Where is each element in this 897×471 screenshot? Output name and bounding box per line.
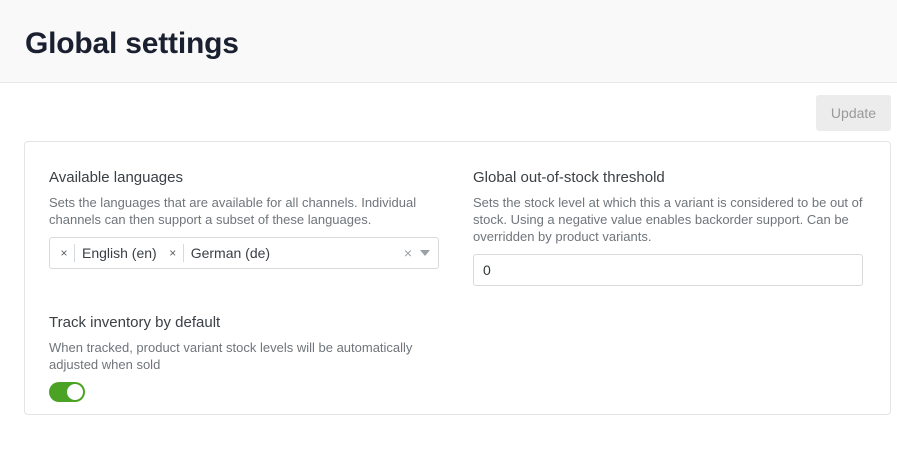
column-right-second [473, 313, 863, 402]
field-track-inventory: Track inventory by default When tracked,… [49, 313, 439, 402]
multiselect-actions: × [404, 238, 430, 268]
language-chip-label: German (de) [191, 244, 270, 262]
toggle-knob [67, 384, 83, 400]
global-settings-page: Global settings Update Available languag… [0, 0, 897, 471]
column-right: Global out-of-stock threshold Sets the s… [473, 168, 863, 286]
out-of-stock-threshold-input[interactable] [473, 254, 863, 286]
available-languages-description: Sets the languages that are available fo… [49, 194, 439, 228]
track-inventory-toggle[interactable] [49, 382, 85, 402]
update-button[interactable]: Update [816, 95, 891, 131]
settings-grid-second-row: Track inventory by default When tracked,… [49, 313, 866, 402]
out-of-stock-threshold-description: Sets the stock level at which this a var… [473, 194, 863, 245]
language-chip: × German (de) [165, 242, 270, 264]
column-left-second: Track inventory by default When tracked,… [49, 313, 439, 402]
action-bar: Update [0, 83, 897, 141]
page-title: Global settings [25, 25, 239, 63]
settings-grid: Available languages Sets the languages t… [49, 168, 866, 286]
language-chip-label: English (en) [82, 244, 157, 262]
chevron-down-icon[interactable] [420, 250, 430, 256]
chip-divider [183, 244, 184, 262]
chip-divider [74, 244, 75, 262]
field-available-languages: Available languages Sets the languages t… [49, 168, 439, 269]
clear-all-icon[interactable]: × [404, 246, 412, 260]
field-out-of-stock-threshold: Global out-of-stock threshold Sets the s… [473, 168, 863, 286]
available-languages-multiselect[interactable]: × English (en) × German (de) × [49, 237, 439, 269]
language-chip: × English (en) [56, 242, 157, 264]
out-of-stock-threshold-label: Global out-of-stock threshold [473, 168, 863, 188]
track-inventory-label: Track inventory by default [49, 313, 439, 333]
page-header: Global settings [0, 0, 897, 83]
chip-remove-icon[interactable]: × [56, 245, 72, 261]
chip-remove-icon[interactable]: × [165, 245, 181, 261]
column-left: Available languages Sets the languages t… [49, 168, 439, 286]
track-inventory-description: When tracked, product variant stock leve… [49, 339, 439, 373]
settings-card: Available languages Sets the languages t… [24, 141, 891, 415]
available-languages-label: Available languages [49, 168, 439, 188]
